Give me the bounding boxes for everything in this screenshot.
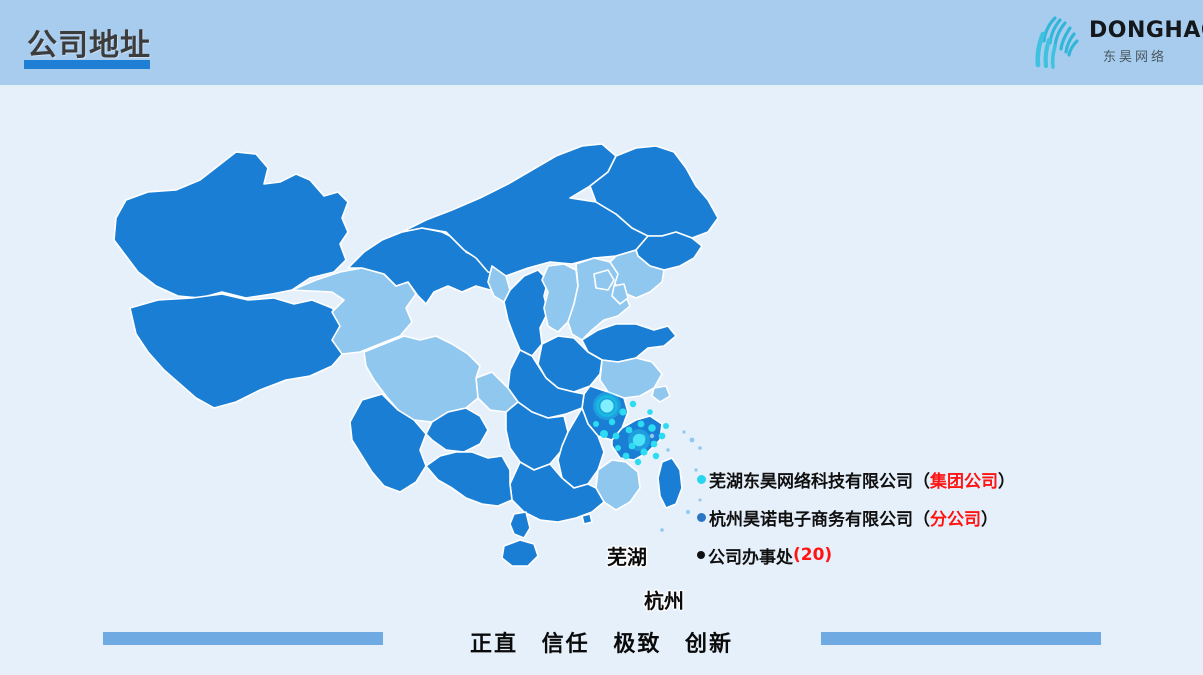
province-taiwan bbox=[658, 458, 682, 508]
legend-close-paren: ） bbox=[981, 505, 998, 530]
legend-item-group-company[interactable]: 芜湖东昊网络科技有限公司 （ 集团公司 ） bbox=[697, 460, 1117, 498]
office-dot bbox=[663, 423, 669, 429]
province-shaanxi bbox=[504, 270, 548, 356]
logo-wordmark: DONGHAO bbox=[1089, 18, 1203, 43]
legend-label: 杭州昊诺电子商务有限公司 bbox=[709, 505, 913, 530]
legend-label: 芜湖东昊网络科技有限公司 bbox=[709, 467, 913, 492]
legend-bullet-black-icon bbox=[697, 551, 705, 559]
legend-open-paren: （ bbox=[913, 467, 930, 492]
legend-bullet-cyan-icon bbox=[697, 475, 706, 484]
office-dot bbox=[609, 419, 615, 425]
page-title: 公司地址 bbox=[27, 20, 151, 64]
legend: 芜湖东昊网络科技有限公司 （ 集团公司 ） 杭州昊诺电子商务有限公司 （ 分公司… bbox=[697, 460, 1117, 574]
slide-root: 公司地址 DONGHAO 东昊网络 bbox=[0, 0, 1203, 675]
office-dot bbox=[593, 421, 599, 427]
office-dot bbox=[600, 430, 608, 438]
marker-wuhu[interactable] bbox=[593, 392, 621, 420]
office-dot bbox=[613, 433, 620, 440]
office-dot bbox=[623, 453, 630, 460]
brand-logo: DONGHAO 东昊网络 bbox=[1017, 4, 1197, 78]
office-dot bbox=[638, 421, 645, 428]
legend-item-offices[interactable]: 公司办事处 (20) bbox=[697, 536, 1117, 574]
province-hainan bbox=[502, 540, 538, 566]
office-dot bbox=[615, 445, 621, 451]
marker-hangzhou[interactable] bbox=[628, 429, 650, 451]
province-shanghai bbox=[652, 386, 670, 402]
province-guangxi bbox=[426, 452, 512, 506]
peninsula-leizhou bbox=[510, 512, 530, 538]
tagline-word-1: 正直 bbox=[470, 632, 518, 657]
title-underline bbox=[24, 60, 150, 69]
office-dot bbox=[648, 424, 656, 432]
office-dot bbox=[647, 409, 653, 415]
office-dot bbox=[659, 433, 666, 440]
office-dot bbox=[635, 459, 641, 465]
office-dot bbox=[630, 401, 636, 407]
china-map[interactable]: 芜湖 杭州 bbox=[96, 140, 756, 610]
office-dot bbox=[653, 453, 659, 459]
legend-tag: 集团公司 bbox=[930, 467, 998, 492]
logo-subtitle: 东昊网络 bbox=[1103, 46, 1167, 65]
legend-close-paren: ） bbox=[998, 467, 1015, 492]
legend-tag: (20) bbox=[793, 545, 832, 565]
map-label-hangzhou: 杭州 bbox=[644, 585, 684, 614]
legend-label: 公司办事处 bbox=[708, 543, 793, 568]
legend-bullet-blue-icon bbox=[697, 513, 706, 522]
province-xinjiang bbox=[114, 152, 348, 298]
office-dot bbox=[651, 441, 658, 448]
legend-item-branch-company[interactable]: 杭州昊诺电子商务有限公司 （ 分公司 ） bbox=[697, 498, 1117, 536]
map-label-wuhu: 芜湖 bbox=[607, 541, 647, 570]
tagline-word-2: 信任 bbox=[542, 632, 590, 657]
header-band: 公司地址 DONGHAO 东昊网络 bbox=[0, 0, 1203, 85]
tagline-word-4: 创新 bbox=[685, 632, 733, 657]
tagline-word-3: 极致 bbox=[613, 632, 661, 657]
legend-open-paren: （ bbox=[913, 505, 930, 530]
region-hongkong bbox=[582, 514, 592, 524]
wing-fan-icon bbox=[1025, 10, 1087, 72]
footer-tagline: 正直 信任 极致 创新 bbox=[0, 626, 1203, 658]
legend-tag: 分公司 bbox=[930, 505, 981, 530]
province-tibet bbox=[130, 294, 344, 408]
